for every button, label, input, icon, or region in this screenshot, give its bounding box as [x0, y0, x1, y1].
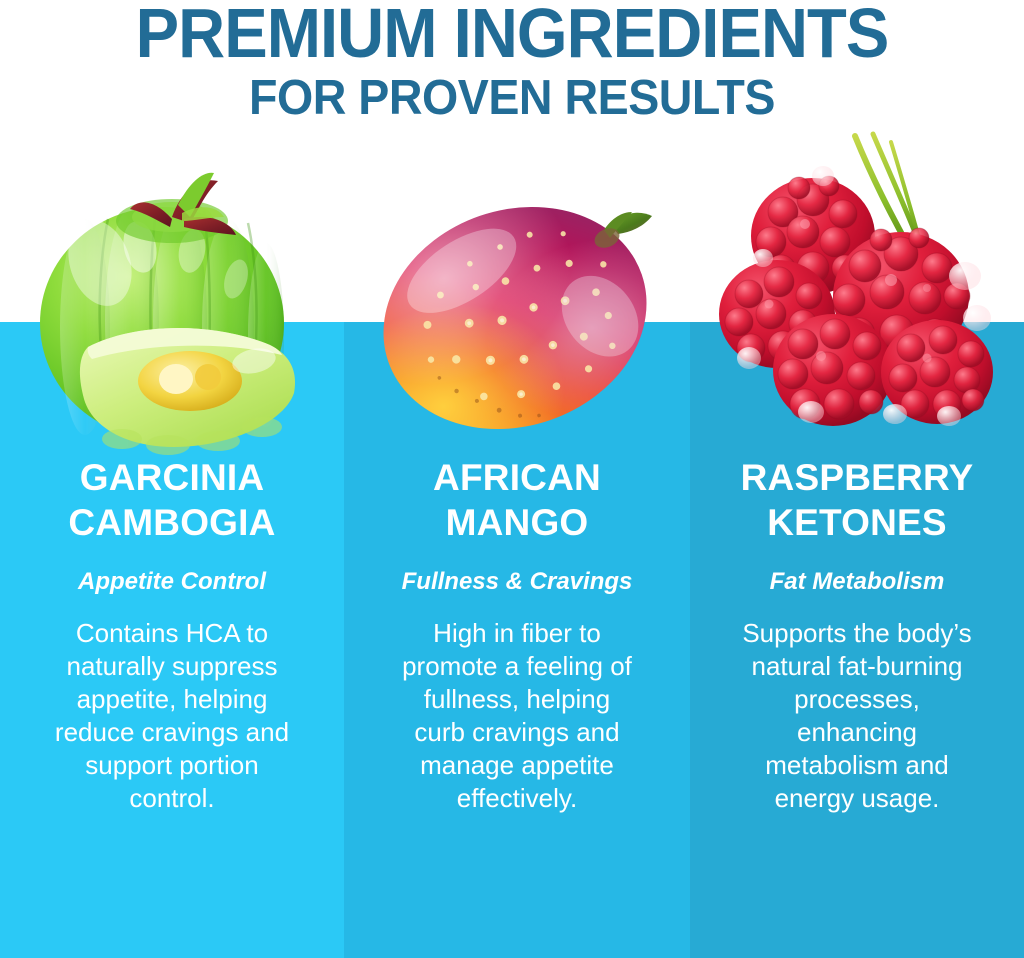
- ingredient-title-line-2: KETONES: [767, 502, 947, 543]
- ingredient-column-raspberry: RASPBERRY KETONES Fat Metabolism Support…: [690, 322, 1024, 958]
- ingredient-description: High in fiber to promote a feeling of fu…: [397, 597, 637, 815]
- ingredient-benefit: Fat Metabolism: [704, 545, 1010, 597]
- page-subtitle: FOR PROVEN RESULTS: [26, 70, 999, 126]
- ingredient-benefit: Fullness & Cravings: [358, 545, 676, 597]
- page-title: PREMIUM INGREDIENTS: [36, 0, 988, 72]
- premium-ingredients-infographic: PREMIUM INGREDIENTS FOR PROVEN RESULTS: [0, 0, 1024, 958]
- ingredient-column-mango: AFRICAN MANGO Fullness & Cravings High i…: [344, 322, 690, 958]
- ingredient-title-line-2: MANGO: [446, 502, 589, 543]
- ingredient-title-line-2: CAMBOGIA: [68, 502, 275, 543]
- ingredient-title-line-1: RASPBERRY: [741, 457, 974, 498]
- ingredient-description: Contains HCA to naturally suppress appet…: [43, 597, 301, 815]
- ingredient-description: Supports the body’s natural fat-burning …: [739, 597, 975, 815]
- ingredient-columns: GARCINIA CAMBOGIA Appetite Control Conta…: [0, 322, 1024, 958]
- ingredient-benefit: Appetite Control: [14, 545, 330, 597]
- ingredient-title-line-1: GARCINIA: [80, 457, 265, 498]
- ingredient-column-garcinia: GARCINIA CAMBOGIA Appetite Control Conta…: [0, 322, 344, 958]
- header: PREMIUM INGREDIENTS FOR PROVEN RESULTS: [0, 0, 1024, 130]
- ingredient-title: GARCINIA CAMBOGIA: [14, 322, 330, 545]
- ingredient-title: AFRICAN MANGO: [358, 322, 676, 545]
- ingredient-title: RASPBERRY KETONES: [704, 322, 1010, 545]
- ingredient-title-line-1: AFRICAN: [433, 457, 601, 498]
